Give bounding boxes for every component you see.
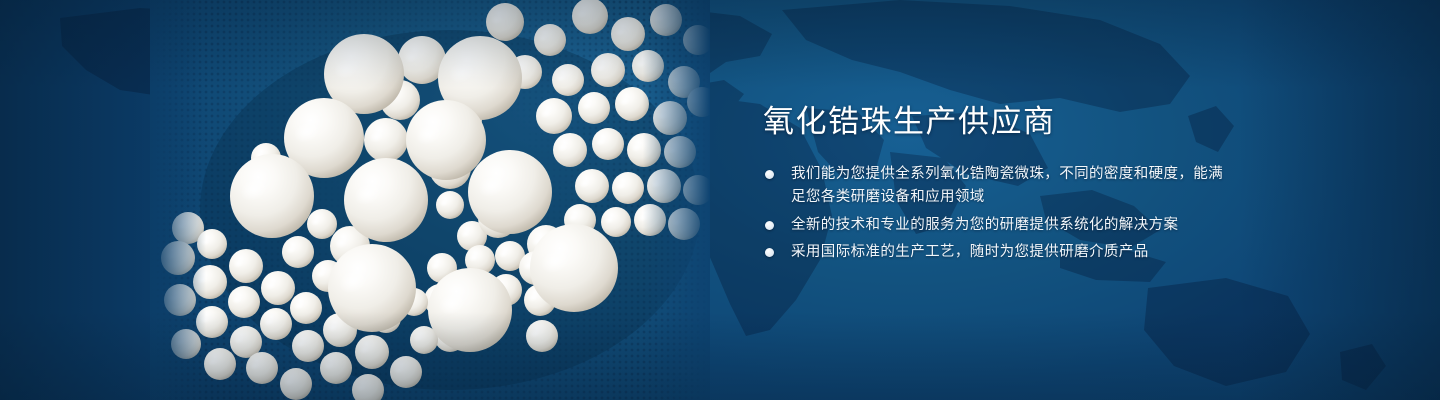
filled-circle-bullet-icon [765,248,774,257]
bullet-text: 我们能为您提供全系列氧化锆陶瓷微珠，不同的密度和硬度，能满足您各类研磨设备和应用… [791,166,1223,205]
bullet-text: 全新的技术和专业的服务为您的研磨提供系统化的解决方案 [791,217,1178,233]
banner-bullet-list: 我们能为您提供全系列氧化锆陶瓷微珠，不同的密度和硬度，能满足您各类研磨设备和应用… [763,163,1233,265]
list-item: 全新的技术和专业的服务为您的研磨提供系统化的解决方案 [763,214,1233,237]
list-item: 采用国际标准的生产工艺，随时为您提供研磨介质产品 [763,241,1233,264]
filled-circle-bullet-icon [765,221,774,230]
banner-headline: 氧化锆珠生产供应商 [763,104,1233,141]
hero-banner: 氧化锆珠生产供应商 我们能为您提供全系列氧化锆陶瓷微珠，不同的密度和硬度，能满足… [0,0,1440,400]
filled-circle-bullet-icon [765,170,774,179]
bullet-text: 采用国际标准的生产工艺，随时为您提供研磨介质产品 [791,244,1149,260]
banner-copy: 氧化锆珠生产供应商 我们能为您提供全系列氧化锆陶瓷微珠，不同的密度和硬度，能满足… [763,104,1233,265]
list-item: 我们能为您提供全系列氧化锆陶瓷微珠，不同的密度和硬度，能满足您各类研磨设备和应用… [763,163,1233,210]
